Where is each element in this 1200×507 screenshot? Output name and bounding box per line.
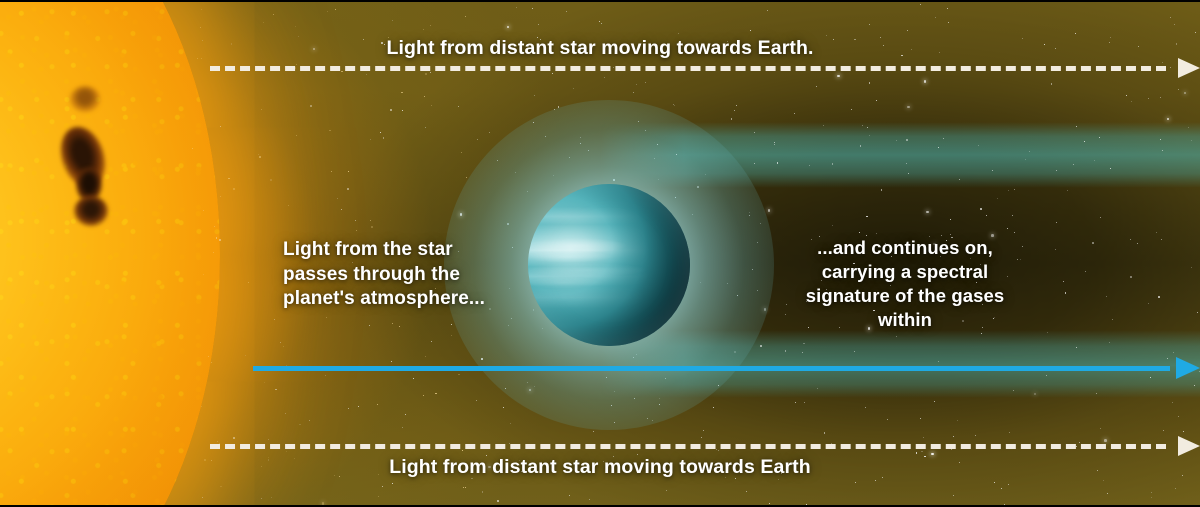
bottom-banner-caption: Light from distant star moving towards E…	[0, 455, 1200, 480]
left-annotation-caption: Light from the star passes through the p…	[283, 238, 513, 312]
exoplanet-disc	[528, 184, 690, 346]
top-banner-caption: Light from distant star moving towards E…	[0, 36, 1200, 61]
top-edge-bar	[0, 0, 1200, 2]
arrow-head-icon	[1176, 357, 1200, 379]
diagram-canvas: Light from distant star moving towards E…	[0, 0, 1200, 507]
bottom-ray-line	[210, 444, 1166, 449]
arrow-head-icon	[1178, 436, 1200, 456]
planet-rim-light	[528, 184, 690, 346]
top-ray-line	[210, 66, 1166, 71]
transmitted-ray-line	[253, 366, 1170, 371]
right-annotation-caption: ...and continues on, carrying a spectral…	[790, 236, 1020, 332]
